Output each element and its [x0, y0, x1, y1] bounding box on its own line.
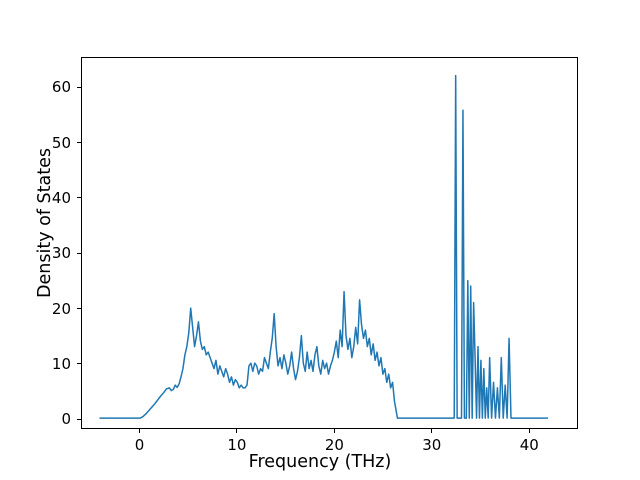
y-tick-mark	[77, 142, 81, 143]
y-tick-label: 0	[31, 410, 71, 428]
x-tick-mark	[139, 429, 140, 433]
y-tick-mark	[77, 419, 81, 420]
y-tick-mark	[77, 87, 81, 88]
phonon-dos-figure: 010203040 0102030405060 Frequency (THz) …	[0, 0, 640, 480]
x-tick-mark	[334, 429, 335, 433]
dos-line-chart	[82, 58, 577, 428]
y-axis-label: Density of States	[35, 37, 55, 409]
plot-axes-area	[81, 57, 578, 429]
x-tick-mark	[236, 429, 237, 433]
dos-curve	[99, 76, 547, 419]
x-axis-label: Frequency (THz)	[0, 452, 640, 472]
y-tick-mark	[77, 253, 81, 254]
x-tick-mark	[529, 429, 530, 433]
y-tick-mark	[77, 363, 81, 364]
x-tick-mark	[431, 429, 432, 433]
y-tick-mark	[77, 197, 81, 198]
y-tick-mark	[77, 308, 81, 309]
